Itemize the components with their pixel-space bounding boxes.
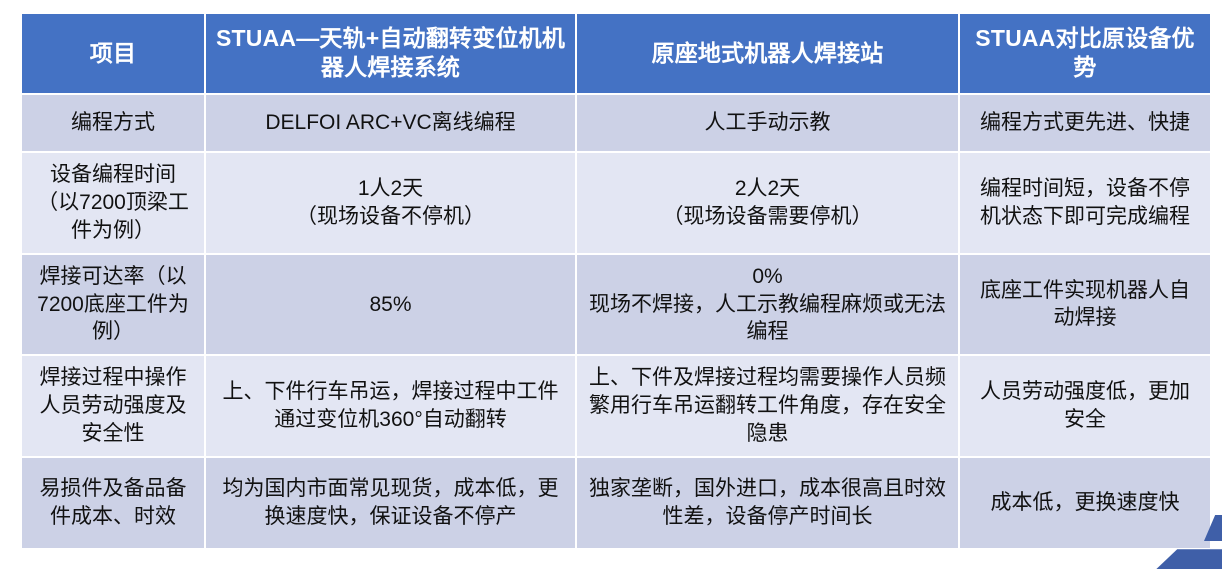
cell-text-line: 2人2天 <box>587 175 948 203</box>
cell-stuaa: 85% <box>206 255 575 354</box>
cell-stuaa: 均为国内市面常见现货，成本低，更换速度快，保证设备不停产 <box>206 458 575 548</box>
column-header-stuaa: STUAA—天轨+自动翻转变位机机器人焊接系统 <box>206 14 575 93</box>
cell-item: 焊接过程中操作人员劳动强度及安全性 <box>22 356 204 456</box>
cell-original: 2人2天（现场设备需要停机） <box>577 153 958 253</box>
cell-item: 焊接可达率（以7200底座工件为例） <box>22 255 204 354</box>
cell-text-line: 1人2天 <box>216 175 565 203</box>
table-row: 焊接过程中操作人员劳动强度及安全性 上、下件行车吊运，焊接过程中工件通过变位机3… <box>22 356 1210 456</box>
table-header: 项目 STUAA—天轨+自动翻转变位机机器人焊接系统 原座地式机器人焊接站 ST… <box>22 14 1210 93</box>
cell-text-line: 现场不焊接，人工示教编程麻烦或无法编程 <box>587 291 948 346</box>
column-header-original: 原座地式机器人焊接站 <box>577 14 958 93</box>
cell-item: 易损件及备品备件成本、时效 <box>22 458 204 548</box>
cell-original: 上、下件及焊接过程均需要操作人员频繁用行车吊运翻转工件角度，存在安全隐患 <box>577 356 958 456</box>
cell-advantage: 成本低，更换速度快 <box>960 458 1210 548</box>
table-row: 设备编程时间（以7200顶梁工件为例） 1人2天（现场设备不停机） 2人2天（现… <box>22 153 1210 253</box>
cell-stuaa: DELFOI ARC+VC离线编程 <box>206 95 575 151</box>
cell-advantage: 编程方式更先进、快捷 <box>960 95 1210 151</box>
cell-advantage: 底座工件实现机器人自动焊接 <box>960 255 1210 354</box>
header-row: 项目 STUAA—天轨+自动翻转变位机机器人焊接系统 原座地式机器人焊接站 ST… <box>22 14 1210 93</box>
comparison-table: 项目 STUAA—天轨+自动翻转变位机机器人焊接系统 原座地式机器人焊接站 ST… <box>20 12 1212 550</box>
cell-advantage: 编程时间短，设备不停机状态下即可完成编程 <box>960 153 1210 253</box>
table-row: 焊接可达率（以7200底座工件为例） 85% 0%现场不焊接，人工示教编程麻烦或… <box>22 255 1210 354</box>
slide-canvas: 项目 STUAA—天轨+自动翻转变位机机器人焊接系统 原座地式机器人焊接站 ST… <box>0 0 1222 569</box>
cell-stuaa: 上、下件行车吊运，焊接过程中工件通过变位机360°自动翻转 <box>206 356 575 456</box>
cell-text-line: 0% <box>587 263 948 291</box>
cell-original: 人工手动示教 <box>577 95 958 151</box>
cell-stuaa: 1人2天（现场设备不停机） <box>206 153 575 253</box>
cell-advantage: 人员劳动强度低，更加安全 <box>960 356 1210 456</box>
cell-text-line: （现场设备不停机） <box>216 203 565 231</box>
cell-item: 编程方式 <box>22 95 204 151</box>
cell-item: 设备编程时间（以7200顶梁工件为例） <box>22 153 204 253</box>
cell-original: 0%现场不焊接，人工示教编程麻烦或无法编程 <box>577 255 958 354</box>
table-body: 编程方式 DELFOI ARC+VC离线编程 人工手动示教 编程方式更先进、快捷… <box>22 95 1210 548</box>
column-header-item: 项目 <box>22 14 204 93</box>
table-row: 编程方式 DELFOI ARC+VC离线编程 人工手动示教 编程方式更先进、快捷 <box>22 95 1210 151</box>
comparison-table-wrapper: 项目 STUAA—天轨+自动翻转变位机机器人焊接系统 原座地式机器人焊接站 ST… <box>20 12 1202 550</box>
column-header-advantage: STUAA对比原设备优势 <box>960 14 1210 93</box>
table-row: 易损件及备品备件成本、时效 均为国内市面常见现货，成本低，更换速度快，保证设备不… <box>22 458 1210 548</box>
cell-text-line: （现场设备需要停机） <box>587 203 948 231</box>
cell-original: 独家垄断，国外进口，成本很高且时效性差，设备停产时间长 <box>577 458 958 548</box>
